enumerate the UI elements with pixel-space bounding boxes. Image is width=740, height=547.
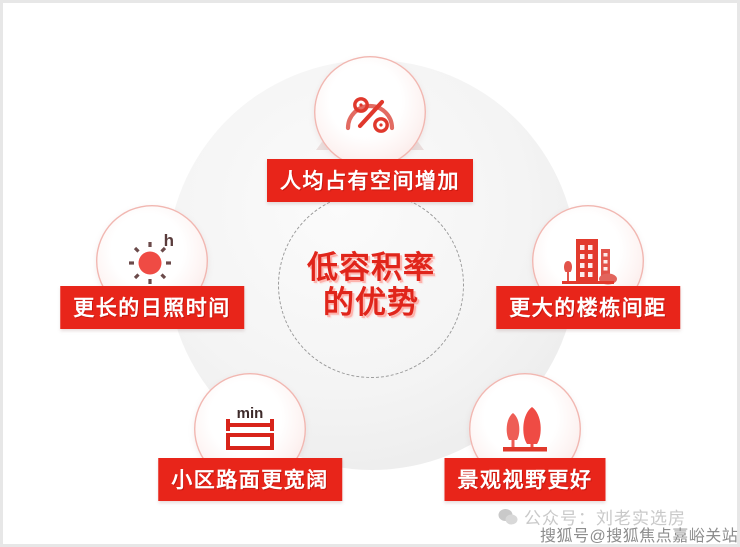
banner-label-bottom-right[interactable]: 景观视野更好	[445, 458, 606, 501]
trees-icon	[493, 397, 557, 461]
percent-gauge-icon	[338, 80, 402, 144]
percent-gauge-icon-svg	[338, 80, 402, 144]
banner-label-left[interactable]: 更长的日照时间	[60, 286, 244, 329]
sun-icon-svg	[120, 229, 184, 293]
center-dashed-ring: 低容积率 的优势	[278, 192, 464, 378]
banner-label-top[interactable]: 人均占有空间增加	[267, 159, 473, 202]
sun-icon: h	[120, 229, 184, 293]
banner-label-right[interactable]: 更大的楼栋间距	[496, 286, 680, 329]
bubble-top	[314, 56, 426, 168]
road-width-icon: min	[218, 397, 282, 461]
svg-text:min: min	[237, 405, 264, 422]
sohu-watermark-text: 搜狐号@搜狐焦点嘉峪关站	[540, 522, 738, 546]
buildings-icon-svg	[556, 229, 620, 293]
road-width-icon-svg: min	[218, 397, 282, 461]
frame-edge-left	[0, 0, 3, 547]
frame-edge-top	[0, 0, 740, 3]
sun-unit-label: h	[164, 231, 174, 251]
infographic-canvas: 低容积率 的优势 人均占有空间增加	[0, 0, 740, 547]
trees-icon-svg	[493, 397, 557, 461]
page-title: 低容积率 的优势	[307, 250, 435, 321]
buildings-icon	[556, 229, 620, 293]
wechat-icon	[498, 508, 518, 526]
banner-label-bottom-left[interactable]: 小区路面更宽阔	[158, 458, 342, 501]
